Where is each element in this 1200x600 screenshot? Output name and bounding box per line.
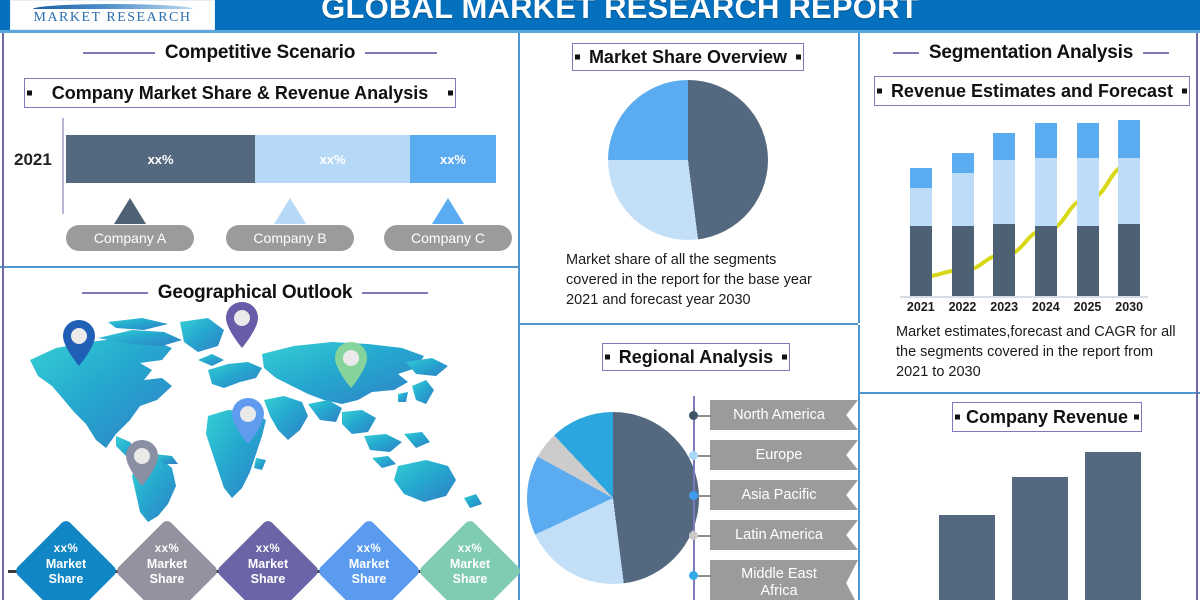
header-underline bbox=[0, 30, 1200, 33]
logo-text: MARKET RESEARCH bbox=[34, 10, 192, 26]
north-america-pin[interactable] bbox=[62, 320, 96, 371]
regional-analysis-title: Regional Analysis bbox=[619, 347, 773, 368]
map-pin-icon bbox=[334, 342, 368, 388]
divider-right-edge bbox=[1196, 33, 1198, 600]
region-connector-dot bbox=[689, 491, 698, 500]
heading-rule-left bbox=[83, 52, 155, 54]
divider-vertical-right-lower bbox=[858, 325, 860, 600]
segmentation-bar-segment bbox=[1035, 123, 1057, 158]
badge-line1: Market bbox=[112, 557, 222, 572]
region-ribbon-label: Latin America bbox=[735, 527, 823, 543]
competitive-segment-c: xx% bbox=[410, 135, 496, 183]
market-share-overview-pie-chart bbox=[608, 80, 768, 240]
region-ribbon[interactable]: Asia Pacific bbox=[710, 480, 858, 510]
region-connector-line bbox=[698, 535, 712, 537]
page-title: GLOBAL MARKET RESEARCH REPORT bbox=[220, 0, 1020, 28]
segmentation-bar-segment bbox=[910, 188, 932, 226]
badge-line1: Market bbox=[11, 557, 121, 572]
segmentation-x-label: 2024 bbox=[1025, 300, 1067, 314]
region-ribbon-label: Asia Pacific bbox=[742, 487, 817, 503]
region-connector-dot bbox=[689, 531, 698, 540]
middle-east-africa-pin[interactable] bbox=[231, 398, 265, 449]
segmentation-x-label: 2030 bbox=[1108, 300, 1150, 314]
world-map bbox=[12, 308, 512, 523]
badge-percent: xx% bbox=[415, 542, 525, 557]
divider-horizontal-right bbox=[860, 392, 1200, 394]
market-share-badge-label: xx%MarketShare bbox=[314, 542, 424, 587]
segmentation-rule-right bbox=[1143, 52, 1169, 54]
company-revenue-bar bbox=[1012, 477, 1068, 600]
market-share-badge-label: xx%MarketShare bbox=[415, 542, 525, 587]
region-connector-dot bbox=[689, 451, 698, 460]
region-ribbon-label: Middle EastAfrica bbox=[741, 566, 817, 600]
competitive-segment-a: xx% bbox=[66, 135, 255, 183]
badge-line1: Market bbox=[213, 557, 323, 572]
market-share-badge-label: xx%MarketShare bbox=[112, 542, 222, 587]
region-ribbon-label: North America bbox=[733, 407, 825, 423]
cagr-line-icon bbox=[900, 112, 1150, 297]
segmentation-x-label: 2022 bbox=[942, 300, 984, 314]
segmentation-bar bbox=[1035, 123, 1057, 297]
segmentation-x-label: 2025 bbox=[1067, 300, 1109, 314]
divider-vertical-right bbox=[858, 33, 860, 323]
segmentation-bar-segment bbox=[1118, 224, 1140, 297]
market-share-overview-title-box: Market Share Overview bbox=[572, 43, 804, 71]
divider-horizontal-middle bbox=[518, 323, 858, 325]
company-c-label: Company C bbox=[411, 230, 485, 246]
segmentation-bar bbox=[1118, 120, 1140, 297]
segmentation-bar-segment bbox=[993, 160, 1015, 223]
segmentation-x-axis bbox=[900, 296, 1148, 298]
divider-vertical-left bbox=[518, 33, 520, 323]
competitive-subtitle-box: Company Market Share & Revenue Analysis bbox=[24, 78, 456, 108]
badge-line1: Market bbox=[314, 557, 424, 572]
latin-america-pin[interactable] bbox=[125, 440, 159, 491]
segmentation-bar-segment bbox=[1077, 123, 1099, 158]
company-a-pill[interactable]: Company A bbox=[66, 225, 194, 251]
segmentation-bar bbox=[993, 133, 1015, 297]
regional-analysis-pie-chart bbox=[527, 412, 699, 584]
segmentation-bar-segment bbox=[1118, 158, 1140, 224]
logo-swoosh-icon bbox=[33, 4, 193, 9]
region-connector-dot bbox=[689, 571, 698, 580]
segmentation-bar-chart bbox=[900, 112, 1150, 297]
region-ribbon[interactable]: North America bbox=[710, 400, 858, 430]
region-connector-line bbox=[698, 575, 712, 577]
region-ribbon[interactable]: Middle EastAfrica bbox=[710, 560, 858, 600]
segmentation-section-heading: Segmentation Analysis bbox=[878, 40, 1184, 66]
segmentation-subtitle-box: Revenue Estimates and Forecast bbox=[874, 76, 1190, 106]
segmentation-bar-segment bbox=[1035, 158, 1057, 226]
map-pin-icon bbox=[125, 440, 159, 486]
segmentation-section-title: Segmentation Analysis bbox=[929, 42, 1133, 64]
company-revenue-bar-chart bbox=[930, 440, 1150, 600]
divider-horizontal-left bbox=[0, 266, 518, 268]
competitive-axis bbox=[62, 118, 64, 214]
segmentation-bar-segment bbox=[1077, 226, 1099, 297]
segmentation-bar-segment bbox=[952, 153, 974, 173]
competitive-subtitle: Company Market Share & Revenue Analysis bbox=[52, 83, 428, 104]
company-a-label: Company A bbox=[94, 230, 166, 246]
badge-percent: xx% bbox=[213, 542, 323, 557]
region-connector-dot bbox=[689, 411, 698, 420]
segmentation-bar-segment bbox=[910, 168, 932, 188]
segmentation-bar-segment bbox=[993, 224, 1015, 297]
segmentation-bar-segment bbox=[1077, 158, 1099, 226]
company-revenue-bar bbox=[1085, 452, 1141, 600]
competitive-section-heading: Competitive Scenario bbox=[60, 40, 460, 66]
competitive-segment-a-label: xx% bbox=[148, 152, 174, 167]
regional-analysis-title-box: Regional Analysis bbox=[602, 343, 790, 371]
competitive-segment-b: xx% bbox=[255, 135, 410, 183]
badge-percent: xx% bbox=[11, 542, 121, 557]
segmentation-bar-segment bbox=[993, 133, 1015, 161]
segmentation-bar bbox=[910, 168, 932, 297]
infographic-root: GLOBAL MARKET RESEARCH REPORT MARKET RES… bbox=[0, 0, 1200, 600]
market-share-badge-label: xx%MarketShare bbox=[213, 542, 323, 587]
segmentation-bar-segment bbox=[910, 226, 932, 297]
badge-line2: Share bbox=[314, 572, 424, 587]
europe-pin[interactable] bbox=[225, 302, 259, 353]
segmentation-x-labels: 202120222023202420252030 bbox=[900, 300, 1150, 318]
region-ribbon-label: Europe bbox=[756, 447, 803, 463]
segmentation-bar-segment bbox=[1118, 120, 1140, 158]
region-connector-line bbox=[698, 455, 712, 457]
competitive-section-title: Competitive Scenario bbox=[165, 42, 355, 64]
heading-rule-right bbox=[365, 52, 437, 54]
brand-logo: MARKET RESEARCH bbox=[10, 0, 215, 30]
divider-left-edge bbox=[2, 33, 4, 600]
badge-line2: Share bbox=[213, 572, 323, 587]
region-ribbon[interactable]: Latin America bbox=[710, 520, 858, 550]
company-revenue-title: Company Revenue bbox=[966, 407, 1128, 428]
market-share-overview-title: Market Share Overview bbox=[589, 47, 787, 68]
geo-rule-right bbox=[362, 292, 428, 294]
segmentation-rule-left bbox=[893, 52, 919, 54]
competitive-year-label: 2021 bbox=[14, 150, 52, 170]
company-b-label: Company B bbox=[253, 230, 326, 246]
company-b-pill[interactable]: Company B bbox=[226, 225, 354, 251]
map-pin-icon bbox=[62, 320, 96, 366]
market-share-overview-caption: Market share of all the segments covered… bbox=[566, 250, 822, 310]
badge-percent: xx% bbox=[112, 542, 222, 557]
segmentation-x-label: 2023 bbox=[983, 300, 1025, 314]
competitive-segment-c-label: xx% bbox=[440, 152, 466, 167]
company-c-pill[interactable]: Company C bbox=[384, 225, 512, 251]
competitive-stacked-bar: xx% xx% xx% bbox=[66, 135, 496, 183]
region-connector-line bbox=[698, 495, 712, 497]
map-pin-icon bbox=[225, 302, 259, 348]
company-revenue-title-box: Company Revenue bbox=[952, 402, 1142, 432]
badge-line2: Share bbox=[415, 572, 525, 587]
market-share-badge-label: xx%MarketShare bbox=[11, 542, 121, 587]
region-connector-line bbox=[698, 415, 712, 417]
geo-rule-left bbox=[82, 292, 148, 294]
geographical-section-title: Geographical Outlook bbox=[158, 282, 352, 304]
map-pin-icon bbox=[231, 398, 265, 444]
company-revenue-bar bbox=[939, 515, 995, 600]
segmentation-bar-segment bbox=[952, 226, 974, 297]
badge-line1: Market bbox=[415, 557, 525, 572]
company-a-pointer-icon bbox=[114, 198, 146, 224]
segmentation-caption: Market estimates,forecast and CAGR for a… bbox=[896, 322, 1186, 382]
segmentation-subtitle: Revenue Estimates and Forecast bbox=[891, 81, 1173, 102]
region-ribbon[interactable]: Europe bbox=[710, 440, 858, 470]
segmentation-bar bbox=[952, 153, 974, 297]
competitive-segment-b-label: xx% bbox=[320, 152, 346, 167]
segmentation-bar-segment bbox=[1035, 226, 1057, 297]
segmentation-bar-segment bbox=[952, 173, 974, 226]
asia-pacific-pin[interactable] bbox=[334, 342, 368, 393]
badge-percent: xx% bbox=[314, 542, 424, 557]
badge-line2: Share bbox=[11, 572, 121, 587]
company-b-pointer-icon bbox=[274, 198, 306, 224]
badge-line2: Share bbox=[112, 572, 222, 587]
segmentation-bar bbox=[1077, 123, 1099, 297]
company-c-pointer-icon bbox=[432, 198, 464, 224]
segmentation-x-label: 2021 bbox=[900, 300, 942, 314]
